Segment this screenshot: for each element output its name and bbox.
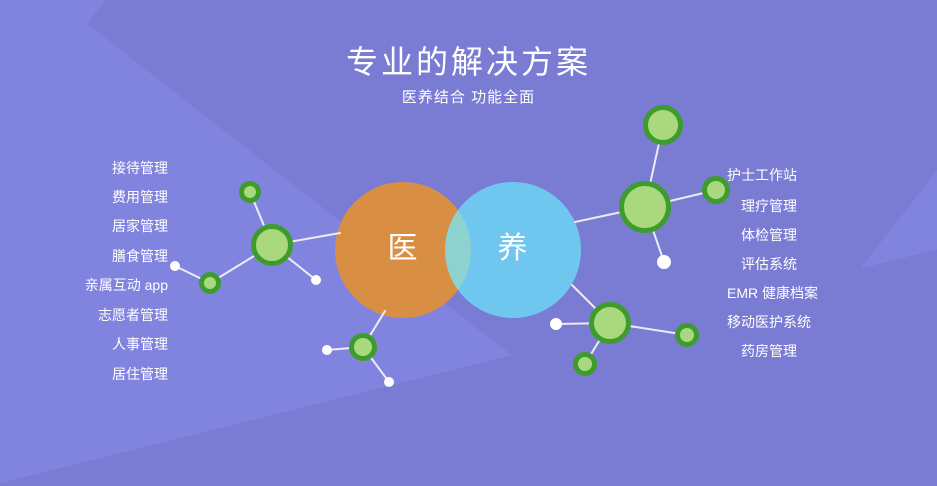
feature-label-left-2[interactable]: 费用管理 xyxy=(112,188,168,206)
feature-label-right-7[interactable]: 药房管理 xyxy=(741,342,797,360)
node-right-top[interactable] xyxy=(646,108,681,143)
node-bottom-dot-left[interactable] xyxy=(322,345,332,355)
feature-label-left-4[interactable]: 膳食管理 xyxy=(112,247,168,265)
node-bottom-hub[interactable] xyxy=(352,336,375,359)
page-subtitle: 医养结合 功能全面 xyxy=(0,88,937,108)
feature-label-left-8[interactable]: 居住管理 xyxy=(112,365,168,383)
venn-label-right: 养 xyxy=(473,234,553,264)
feature-label-right-3[interactable]: 体检管理 xyxy=(741,226,797,244)
node-left-dot[interactable] xyxy=(170,261,180,271)
node-lower-dot[interactable] xyxy=(550,318,562,330)
feature-label-left-6[interactable]: 志愿者管理 xyxy=(98,306,168,324)
slide-canvas: 专业的解决方案 医养结合 功能全面 医 养 接待管理费用管理居家管理膳食管理亲属… xyxy=(0,0,937,486)
feature-label-left-3[interactable]: 居家管理 xyxy=(112,217,168,235)
feature-label-right-5[interactable]: EMR 健康档案 xyxy=(727,284,818,302)
node-bottom-dot-low[interactable] xyxy=(384,377,394,387)
node-lower-hub[interactable] xyxy=(592,305,629,342)
node-left-dot-inner[interactable] xyxy=(311,275,321,285)
node-right-dot[interactable] xyxy=(657,255,671,269)
node-lower-right[interactable] xyxy=(678,326,697,345)
feature-label-right-1[interactable]: 护士工作站 xyxy=(727,166,797,184)
venn-label-left: 医 xyxy=(363,234,443,264)
feature-label-right-6[interactable]: 移动医护系统 xyxy=(727,313,811,331)
feature-label-left-5[interactable]: 亲属互动 app xyxy=(85,276,168,294)
node-left-top[interactable] xyxy=(242,184,259,201)
node-left-hub[interactable] xyxy=(254,227,291,264)
node-right-side[interactable] xyxy=(705,179,728,202)
feature-label-right-2[interactable]: 理疗管理 xyxy=(741,197,797,215)
feature-label-left-7[interactable]: 人事管理 xyxy=(112,335,168,353)
feature-label-right-4[interactable]: 评估系统 xyxy=(741,255,797,273)
node-lower-small[interactable] xyxy=(576,355,595,374)
node-left-lower[interactable] xyxy=(202,275,219,292)
node-right-hub[interactable] xyxy=(622,184,669,231)
feature-label-left-1[interactable]: 接待管理 xyxy=(112,159,168,177)
page-title: 专业的解决方案 xyxy=(0,42,937,82)
